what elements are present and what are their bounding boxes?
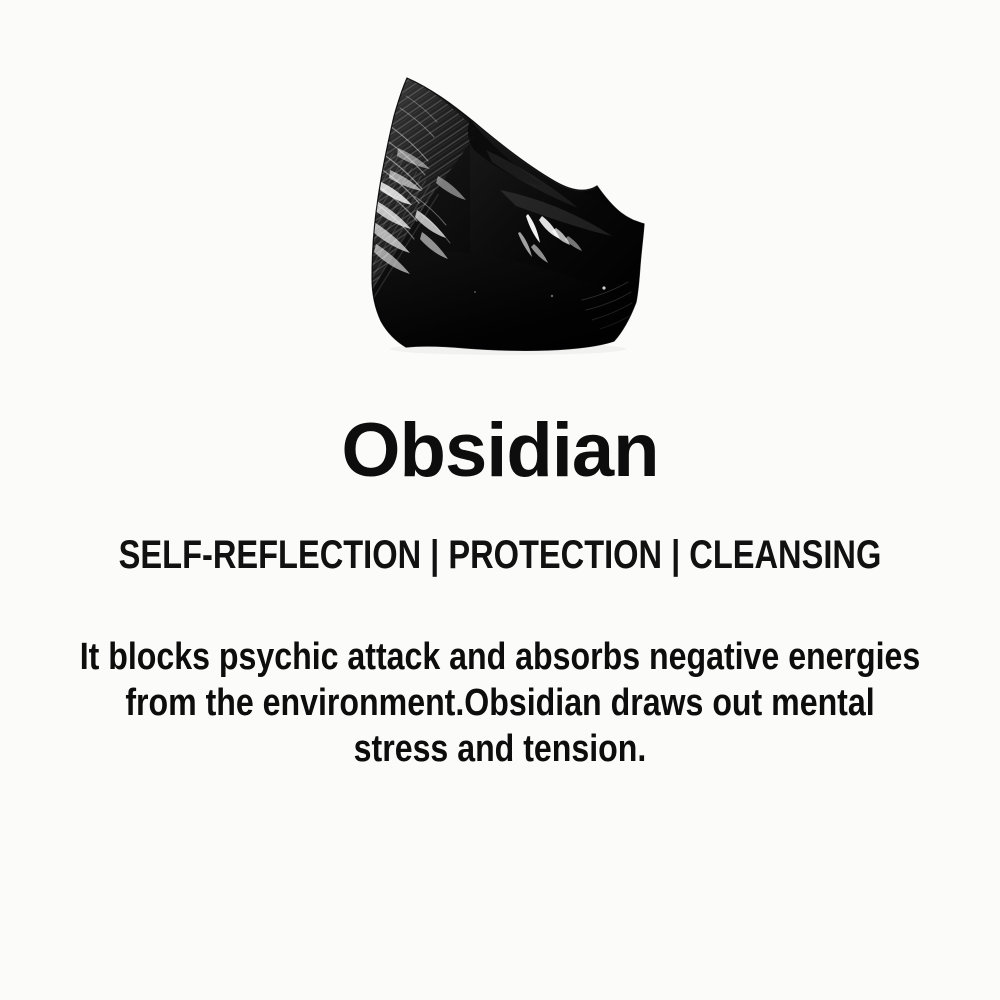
crystal-description: It blocks psychic attack and absorbs neg…	[78, 634, 923, 772]
stone-speck	[551, 295, 553, 297]
crystal-title: Obsidian	[0, 400, 1000, 494]
stone-speck	[602, 286, 605, 289]
crystal-info-card: Obsidian SELF-REFLECTION | PROTECTION | …	[0, 0, 1000, 1000]
crystal-keywords: SELF-REFLECTION | PROTECTION | CLEANSING	[93, 532, 908, 578]
stone-speck	[474, 291, 476, 293]
stone-body-group	[350, 60, 670, 370]
crystal-text-block: Obsidian SELF-REFLECTION | PROTECTION | …	[0, 400, 1000, 772]
obsidian-stone-image	[0, 0, 1000, 400]
obsidian-stone-figure	[0, 0, 1000, 400]
